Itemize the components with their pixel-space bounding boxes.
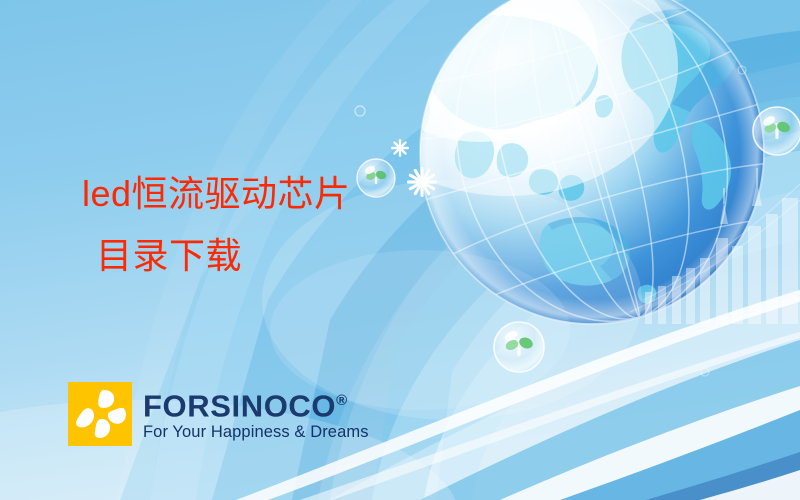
logo-wordmark-text: FORSINOCO [143,388,336,423]
pinwheel-flower-icon [68,382,132,446]
bubble-icon [494,322,544,372]
bubble-icon [357,159,395,197]
logo-wordmark: FORSINOCO® [143,384,369,422]
logo-tagline: For Your Happiness & Dreams [143,423,369,442]
logo-text-block: FORSINOCO® For Your Happiness & Dreams [143,384,369,442]
company-logo: FORSINOCO® For Your Happiness & Dreams [68,382,369,446]
bubble-icon [753,107,800,155]
sparkle-icon [391,139,409,157]
promo-banner: led恒流驱动芯片 目录下载 FORSINOCO® For Your Happi… [0,0,800,500]
registered-trademark-icon: ® [336,392,347,409]
